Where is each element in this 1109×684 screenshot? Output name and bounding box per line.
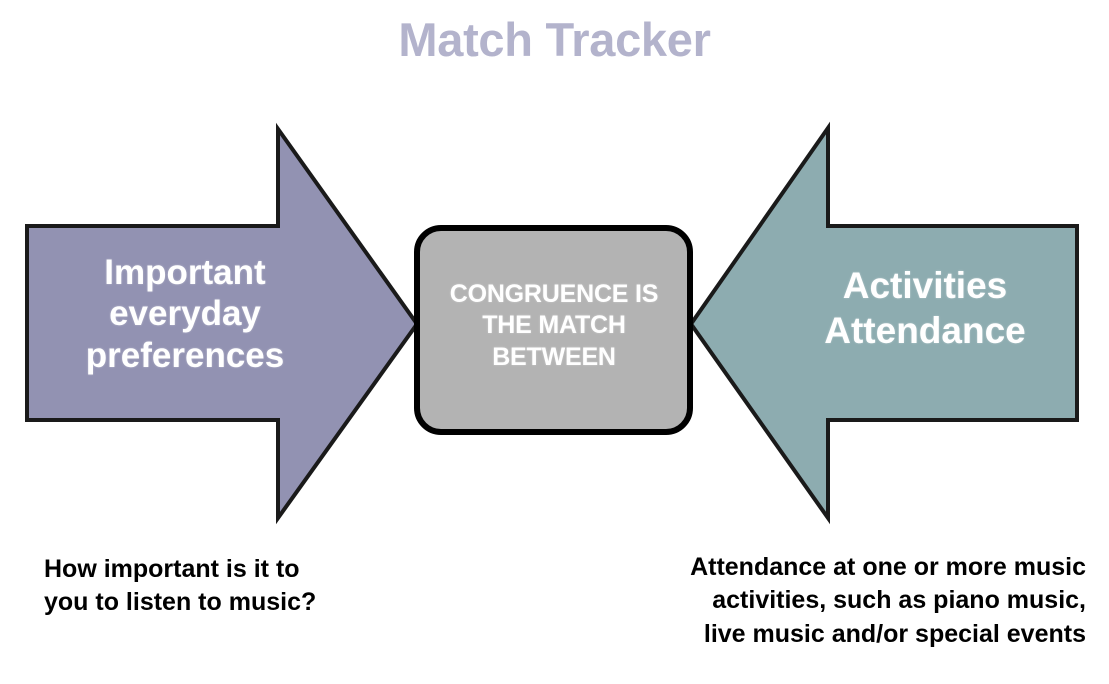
right-arrow-label-line-1: Activities: [770, 263, 1080, 308]
left-caption-line-2: you to listen to music?: [44, 586, 464, 619]
right-caption-line-2: activities, such as piano music,: [610, 584, 1086, 617]
left-caption-line-1: How important is it to: [44, 553, 464, 586]
center-box-label-line-1: CONGRUENCE IS: [420, 279, 688, 310]
diagram-canvas: Match Tracker Important everyday prefere…: [0, 0, 1109, 684]
center-box-label-line-3: BETWEEN: [420, 342, 688, 373]
left-caption: How important is it to you to listen to …: [44, 553, 464, 620]
right-arrow-label-line-2: Attendance: [770, 308, 1080, 353]
right-arrow-label: Activities Attendance: [770, 263, 1080, 353]
right-caption-line-1: Attendance at one or more music: [610, 551, 1086, 584]
left-arrow-label-line-3: preferences: [30, 335, 340, 376]
left-arrow-label-line-1: Important: [30, 252, 340, 293]
left-arrow-label-line-2: everyday: [30, 293, 340, 334]
right-caption-line-3: live music and/or special events: [610, 618, 1086, 651]
center-box-label: CONGRUENCE IS THE MATCH BETWEEN: [420, 279, 688, 373]
left-arrow-label: Important everyday preferences: [30, 252, 340, 376]
center-box-label-line-2: THE MATCH: [420, 310, 688, 341]
right-caption: Attendance at one or more music activiti…: [610, 551, 1086, 651]
